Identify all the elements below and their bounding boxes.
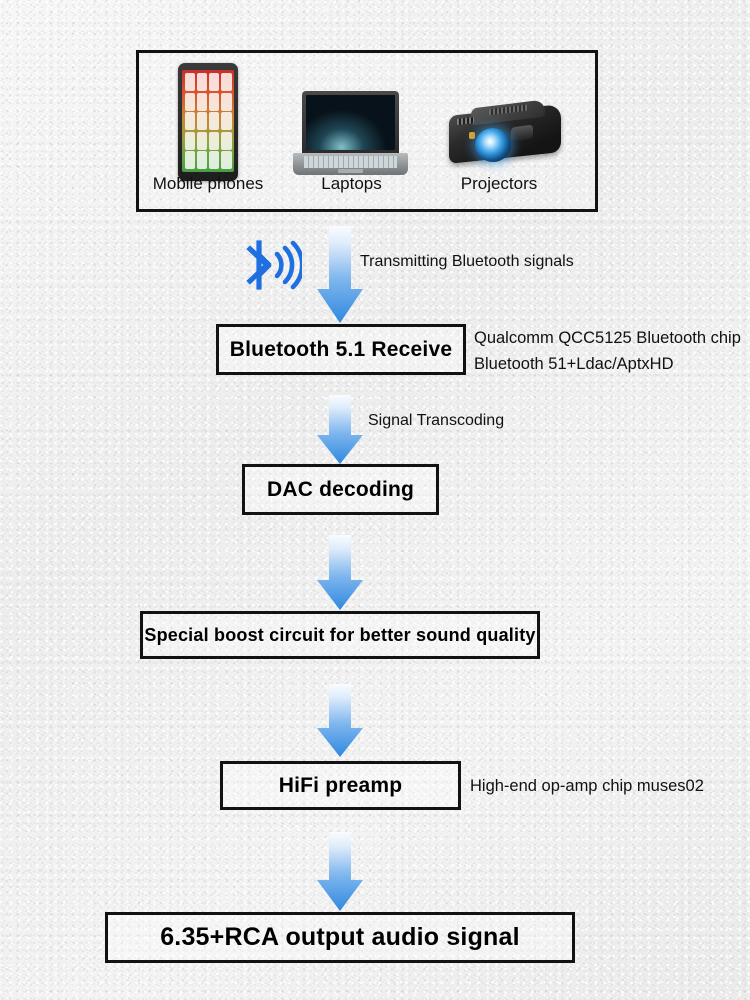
note-signal-transcoding: Signal Transcoding [368, 412, 504, 430]
note-opamp-chip: High-end op-amp chip muses02 [470, 775, 704, 799]
laptop-keyboard [304, 156, 397, 168]
arrow-boost-to-preamp [316, 684, 364, 763]
device-label-laptops: Laptops [299, 175, 404, 194]
laptop-screen [306, 95, 395, 150]
arrow-receiver-to-dac [316, 395, 364, 470]
device-label-mobile-phones: Mobile phones [148, 175, 268, 194]
step-box-boost-circuit[interactable]: Special boost circuit for better sound q… [140, 611, 540, 659]
step-label: Bluetooth 5.1 Receive [230, 338, 452, 362]
step-label: Special boost circuit for better sound q… [144, 625, 535, 646]
bluetooth-signal-icon [236, 236, 302, 294]
device-label-text: Laptops [321, 174, 382, 193]
smartphone-icon [178, 63, 238, 181]
step-box-audio-output[interactable]: 6.35+RCA output audio signal [105, 912, 575, 963]
projector-led [469, 132, 475, 139]
smartphone-screen [182, 70, 234, 172]
step-box-hifi-preamp[interactable]: HiFi preamp [220, 761, 461, 810]
note-transmitting-bluetooth-signals: Transmitting Bluetooth signals [360, 253, 574, 271]
note-qualcomm-chip: Qualcomm QCC5125 Bluetooth chip [474, 327, 741, 351]
arrow-dac-to-boost [316, 535, 364, 616]
laptop-lid [302, 91, 399, 154]
step-label: HiFi preamp [279, 774, 403, 798]
projector-icon [443, 96, 568, 174]
source-devices-frame: Mobile phones Laptops Projectors [136, 50, 598, 212]
laptop-base [293, 153, 408, 175]
step-box-bluetooth-receive[interactable]: Bluetooth 5.1 Receive [216, 324, 466, 375]
note-bluetooth-codecs: Bluetooth 51+Ldac/AptxHD [474, 353, 674, 377]
device-label-text: Mobile phones [153, 174, 264, 193]
step-label: DAC decoding [267, 478, 414, 502]
arrow-devices-to-receiver [316, 226, 364, 329]
laptop-trackpad [338, 169, 363, 173]
device-label-text: Projectors [461, 174, 538, 193]
step-label: 6.35+RCA output audio signal [160, 923, 520, 952]
laptop-icon [293, 91, 408, 179]
arrow-preamp-to-output [316, 832, 364, 917]
device-label-projectors: Projectors [439, 175, 559, 194]
projector-lens [475, 128, 511, 162]
step-box-dac-decoding[interactable]: DAC decoding [242, 464, 439, 515]
